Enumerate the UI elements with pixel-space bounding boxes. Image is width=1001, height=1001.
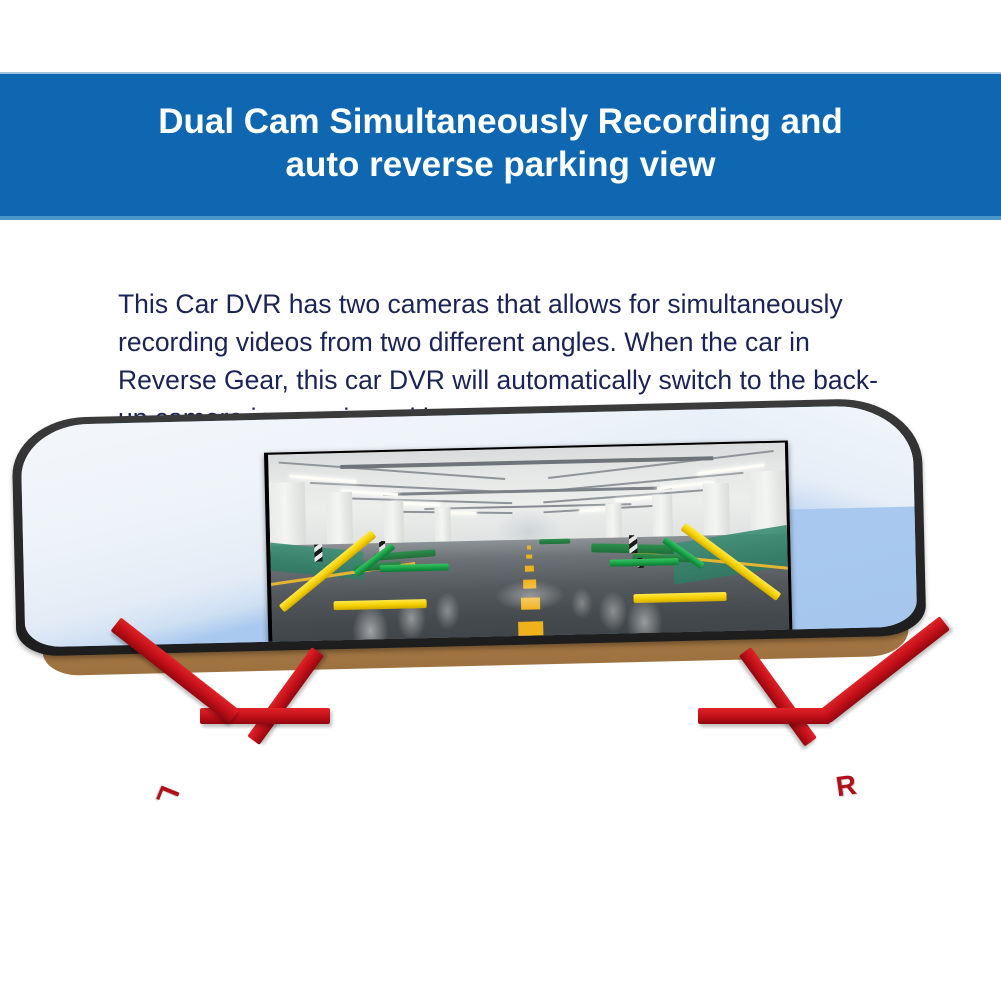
headline-line-1: Dual Cam Simultaneously Recording and xyxy=(131,101,871,144)
guideline-yellow-left-horizontal xyxy=(334,599,427,610)
product-infographic-page: Dual Cam Simultaneously Recording and au… xyxy=(0,0,1001,1001)
rear-view-mirror xyxy=(11,397,927,673)
mirror-glass xyxy=(20,405,917,648)
headline-banner: Dual Cam Simultaneously Recording and au… xyxy=(0,72,1001,220)
product-illustration: L R xyxy=(0,400,1001,870)
red-guide-right-upper-diagonal xyxy=(739,647,817,746)
right-corner-marker: R xyxy=(834,771,858,802)
left-corner-marker: L xyxy=(151,782,183,808)
lcd-screen-image xyxy=(268,443,790,648)
guideline-yellow-right-horizontal xyxy=(633,592,726,603)
garage-camera-scene xyxy=(268,443,790,648)
parking-guideline-overlay xyxy=(268,443,790,648)
top-margin xyxy=(0,0,1001,72)
headline-line-2: auto reverse parking view xyxy=(131,144,871,187)
headline-text: Dual Cam Simultaneously Recording and au… xyxy=(131,101,871,186)
red-guide-left-horizontal xyxy=(200,708,330,724)
guideline-green-right-horizontal xyxy=(609,558,679,567)
red-guide-right-horizontal xyxy=(698,708,830,724)
lcd-screen[interactable] xyxy=(264,440,793,647)
guideline-green-left-horizontal xyxy=(379,563,449,572)
